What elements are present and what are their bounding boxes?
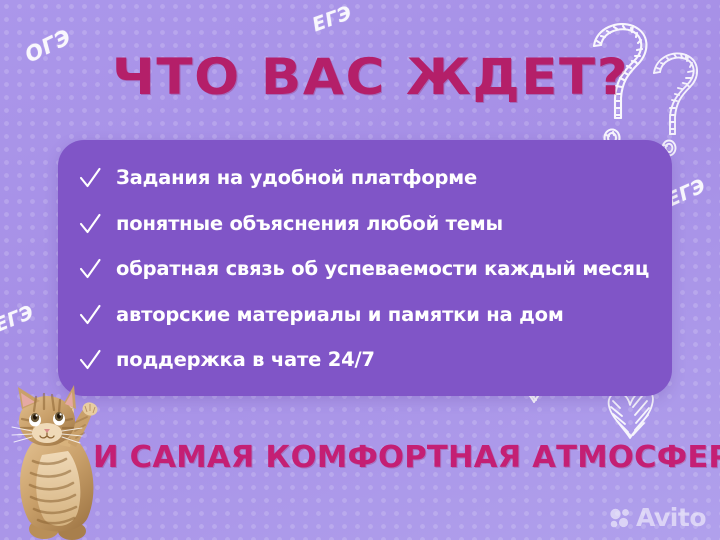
list-item-label: поддержка в чате 24/7 <box>116 350 375 370</box>
poster-canvas: ОГЭ ЕГЭ ЕГЭ ЕГЭ <box>0 0 720 540</box>
list-item-label: авторские материалы и памятки на дом <box>116 305 564 325</box>
doodle-word-oge-top-left: ОГЭ <box>21 25 75 68</box>
page-title: ЧТО ВАС ЖДЕТ? <box>112 52 629 102</box>
doodle-word-ege-top-center: ЕГЭ <box>309 2 355 37</box>
check-icon <box>78 166 102 190</box>
list-item: обратная связь об успеваемости каждый ме… <box>78 253 652 285</box>
check-icon <box>78 303 102 327</box>
list-item-label: понятные объяснения любой темы <box>116 214 503 234</box>
feature-list: Задания на удобной платформе понятные об… <box>58 140 672 396</box>
avito-dots-logo-icon <box>609 507 631 529</box>
page-subtitle: И САМАЯ КОМФОРТНАЯ АТМОСФЕРА <box>93 443 720 473</box>
doodle-word-ege-middle-left: ЕГЭ <box>0 301 37 337</box>
list-item: Задания на удобной платформе <box>78 162 652 194</box>
avito-watermark: Avito <box>609 505 706 530</box>
list-item: понятные объяснения любой темы <box>78 208 652 240</box>
list-item: авторские материалы и памятки на дом <box>78 299 652 331</box>
list-item-label: Задания на удобной платформе <box>116 168 477 188</box>
check-icon <box>78 348 102 372</box>
avito-watermark-label: Avito <box>636 505 706 530</box>
list-item: поддержка в чате 24/7 <box>78 344 652 376</box>
check-icon <box>78 257 102 281</box>
list-item-label: обратная связь об успеваемости каждый ме… <box>116 259 649 279</box>
features-card: Задания на удобной платформе понятные об… <box>58 140 672 396</box>
check-icon <box>78 212 102 236</box>
